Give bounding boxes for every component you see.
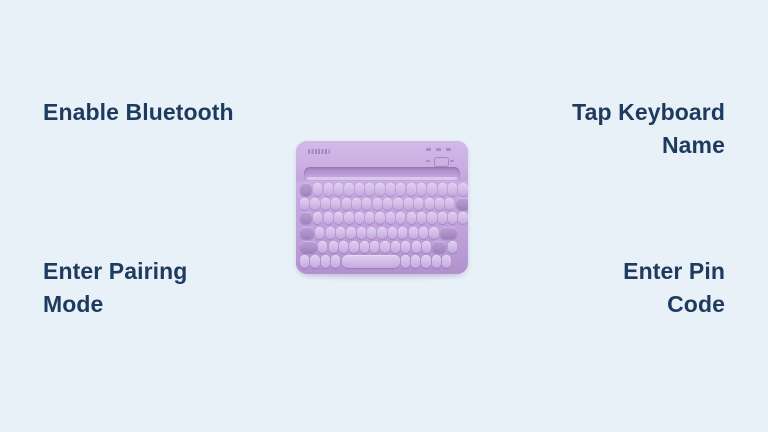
keyboard-key	[414, 198, 423, 210]
keyboard-key	[326, 227, 335, 239]
keyboard-key	[300, 212, 312, 224]
step-label-enter-pin-code: Enter Pin Code	[623, 255, 725, 321]
keyboard-key	[391, 241, 400, 253]
tablet-stand-groove-highlight	[307, 177, 457, 180]
keyboard-key	[375, 183, 384, 195]
keyboard-key	[442, 255, 451, 267]
keyboard-key	[313, 183, 322, 195]
keyboard-key	[373, 198, 382, 210]
keyboard-key	[355, 212, 364, 224]
keyboard-key	[310, 255, 319, 267]
bluetooth-keyboard-image	[296, 141, 468, 274]
keyboard-key	[342, 255, 400, 267]
keyboard-body	[296, 141, 468, 274]
keyboard-key	[336, 227, 345, 239]
keyboard-key	[365, 183, 374, 195]
keyboard-key	[342, 198, 351, 210]
keyboard-key	[300, 241, 317, 253]
keyboard-top-letter-row	[300, 212, 464, 225]
keyboard-key	[324, 183, 333, 195]
keyboard-key	[344, 212, 353, 224]
step-label-enable-bluetooth: Enable Bluetooth	[43, 96, 234, 129]
keyboard-key	[313, 212, 322, 224]
keyboard-key	[419, 227, 428, 239]
keyboard-key	[329, 241, 338, 253]
keyboard-modifier-row	[300, 255, 464, 268]
keyboard-key	[346, 227, 355, 239]
keyboard-key	[398, 227, 407, 239]
keyboard-key	[324, 212, 333, 224]
keyboard-key	[427, 183, 436, 195]
keyboard-key	[432, 255, 441, 267]
keyboard-key	[407, 183, 416, 195]
keyboard-key	[386, 212, 395, 224]
keyboard-home-row	[300, 226, 464, 239]
keyboard-key	[315, 227, 324, 239]
keyboard-key	[334, 183, 343, 195]
indicator-light-1-icon	[426, 148, 431, 151]
keyboard-key	[458, 212, 467, 224]
battery-icon	[434, 157, 449, 167]
keyboard-key	[396, 212, 405, 224]
keyboard-key	[331, 255, 340, 267]
indicator-light-2-icon	[436, 148, 441, 151]
keyboard-key	[344, 183, 353, 195]
keyboard-key	[388, 227, 397, 239]
keyboard-key	[417, 212, 426, 224]
keyboard-key	[435, 198, 444, 210]
step-label-tap-keyboard-name: Tap Keyboard Name	[572, 96, 725, 162]
keyboard-key	[300, 255, 309, 267]
keyboard-key	[427, 212, 436, 224]
step-label-enter-pairing-mode: Enter Pairing Mode	[43, 255, 187, 321]
keyboard-key	[438, 212, 447, 224]
indicator-tick-right-icon	[450, 160, 454, 162]
keyboard-key	[331, 198, 340, 210]
status-indicator-lights	[424, 148, 458, 168]
keyboard-key	[458, 183, 467, 195]
keyboard-key	[334, 212, 343, 224]
keyboard-key	[432, 241, 446, 253]
keyboard-key	[440, 227, 457, 239]
keyboard-key	[349, 241, 358, 253]
keyboard-key-rows	[300, 183, 464, 268]
keyboard-key	[370, 241, 379, 253]
keyboard-key	[318, 241, 327, 253]
brand-logo	[308, 149, 330, 154]
keyboard-key	[448, 212, 457, 224]
keyboard-key	[421, 255, 430, 267]
keyboard-key	[422, 241, 431, 253]
keyboard-key	[310, 198, 319, 210]
keyboard-key	[417, 183, 426, 195]
keyboard-key	[321, 255, 330, 267]
keyboard-key	[300, 183, 312, 195]
keyboard-key	[456, 198, 468, 210]
keyboard-key	[300, 198, 309, 210]
keyboard-key	[401, 241, 410, 253]
keyboard-key	[404, 198, 413, 210]
keyboard-key	[396, 183, 405, 195]
keyboard-key	[411, 255, 420, 267]
keyboard-key	[360, 241, 369, 253]
keyboard-key	[339, 241, 348, 253]
keyboard-key	[352, 198, 361, 210]
keyboard-key	[321, 198, 330, 210]
keyboard-function-row	[300, 183, 464, 196]
keyboard-bottom-letter-row	[300, 241, 464, 254]
slide-canvas: Enable Bluetooth Tap Keyboard Name Enter…	[0, 0, 768, 432]
keyboard-key	[448, 183, 457, 195]
keyboard-key	[357, 227, 366, 239]
keyboard-key	[401, 255, 410, 267]
keyboard-key	[380, 241, 389, 253]
keyboard-key	[445, 198, 454, 210]
indicator-tick-left-icon	[426, 160, 430, 162]
keyboard-key	[383, 198, 392, 210]
keyboard-key	[429, 227, 438, 239]
keyboard-key	[367, 227, 376, 239]
keyboard-key	[409, 227, 418, 239]
keyboard-key	[386, 183, 395, 195]
keyboard-key	[362, 198, 371, 210]
keyboard-number-row	[300, 197, 464, 210]
keyboard-key	[412, 241, 421, 253]
keyboard-key	[355, 183, 364, 195]
keyboard-key	[377, 227, 386, 239]
keyboard-key	[393, 198, 402, 210]
keyboard-key	[407, 212, 416, 224]
keyboard-key	[300, 227, 314, 239]
keyboard-key	[438, 183, 447, 195]
indicator-light-3-icon	[446, 148, 451, 151]
keyboard-key	[425, 198, 434, 210]
keyboard-key	[375, 212, 384, 224]
keyboard-key	[448, 241, 457, 253]
keyboard-key	[365, 212, 374, 224]
